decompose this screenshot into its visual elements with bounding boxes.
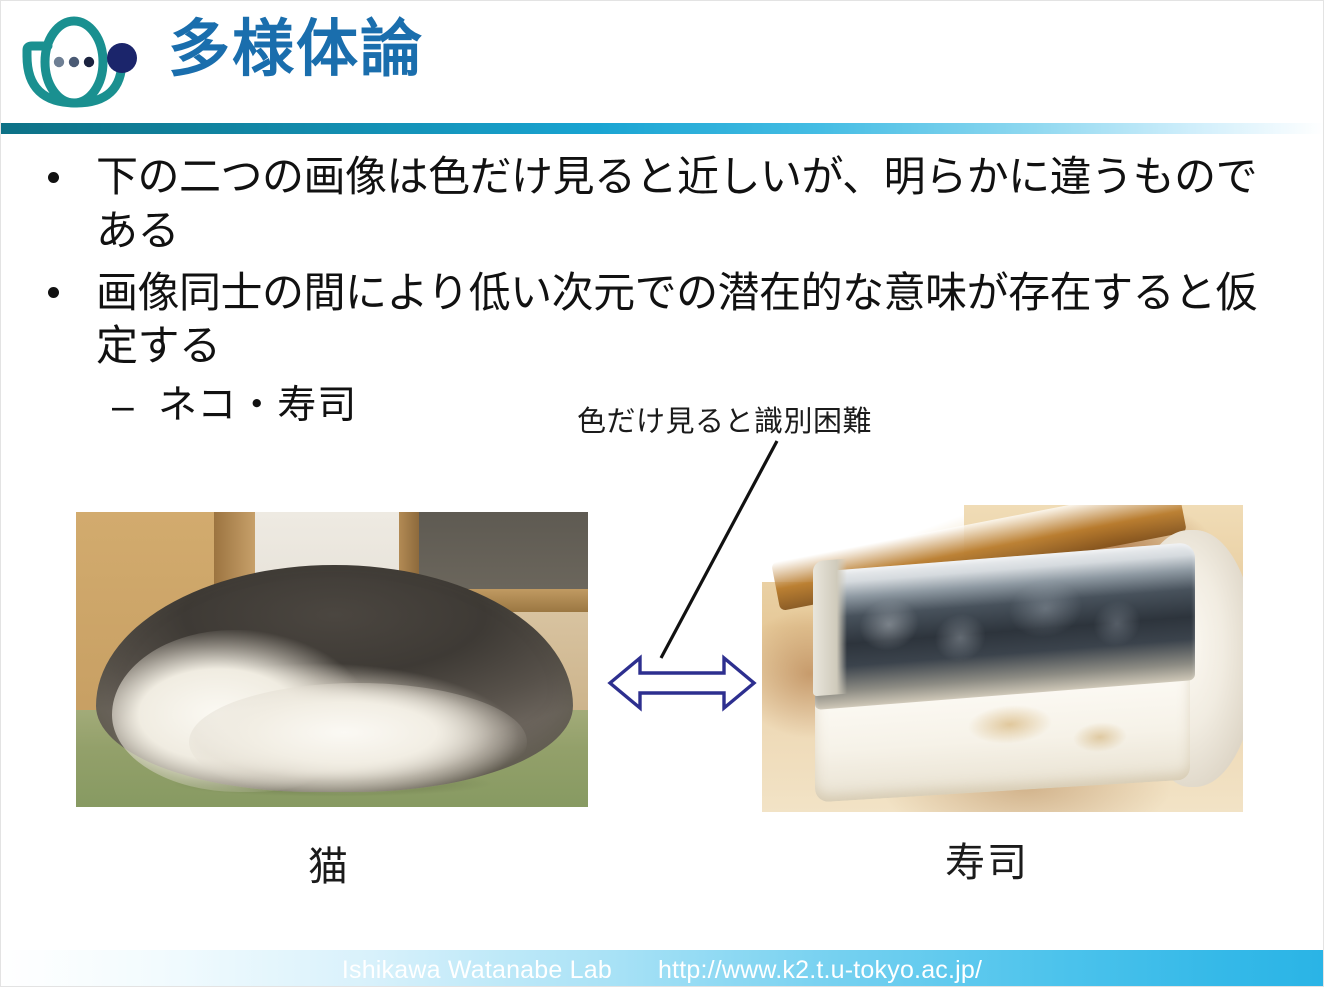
footer-lab-name: Ishikawa Watanabe Lab	[342, 956, 612, 984]
list-item: 下の二つの画像は色だけ見ると近しいが、明らかに違うものである	[0, 150, 1324, 258]
slide-header: 多様体論	[0, 0, 1324, 125]
slide: 多様体論 下の二つの画像は色だけ見ると近しいが、明らかに違うものである 画像同士…	[0, 0, 1324, 987]
cat-photo-white-belly	[189, 683, 527, 801]
sub-bullet-text: ネコ・寿司	[158, 384, 357, 427]
double-headed-arrow-icon	[607, 652, 757, 714]
sushi-photo-mackerel-cut-end	[813, 559, 847, 697]
list-item: 画像同士の間により低い次元での潜在的な意味が存在すると仮定する	[0, 266, 1324, 374]
cat-photo-caption: 猫	[308, 834, 350, 892]
cat-photo	[76, 512, 588, 807]
bullet-list: 下の二つの画像は色だけ見ると近しいが、明らかに違うものである 画像同士の間により…	[0, 150, 1324, 432]
ishikawa-watanabe-lab-logo-icon	[10, 8, 150, 116]
slide-footer-text: Ishikawa Watanabe Labhttp://www.k2.t.u-t…	[0, 956, 1324, 985]
bullet-text: 下の二つの画像は色だけ見ると近しいが、明らかに違うものである	[96, 153, 1257, 254]
slide-border	[0, 0, 1324, 987]
cat-photo-wall-dark	[419, 512, 588, 589]
sushi-photo	[762, 505, 1243, 812]
slide-body: 下の二つの画像は色だけ見ると近しいが、明らかに違うものである 画像同士の間により…	[0, 150, 1324, 432]
page-title: 多様体論	[168, 14, 424, 85]
bullet-marker-icon	[48, 287, 59, 298]
bullet-text: 画像同士の間により低い次元での潜在的な意味が存在すると仮定する	[96, 269, 1257, 370]
footer-lab-url[interactable]: http://www.k2.t.u-tokyo.ac.jp/	[658, 956, 982, 984]
dash-marker-icon: –	[112, 382, 135, 433]
bullet-marker-icon	[48, 172, 59, 183]
annotation-label: 色だけ見ると識別困難	[577, 398, 872, 440]
sushi-photo-caption: 寿司	[945, 830, 1029, 888]
header-divider	[0, 123, 1324, 134]
